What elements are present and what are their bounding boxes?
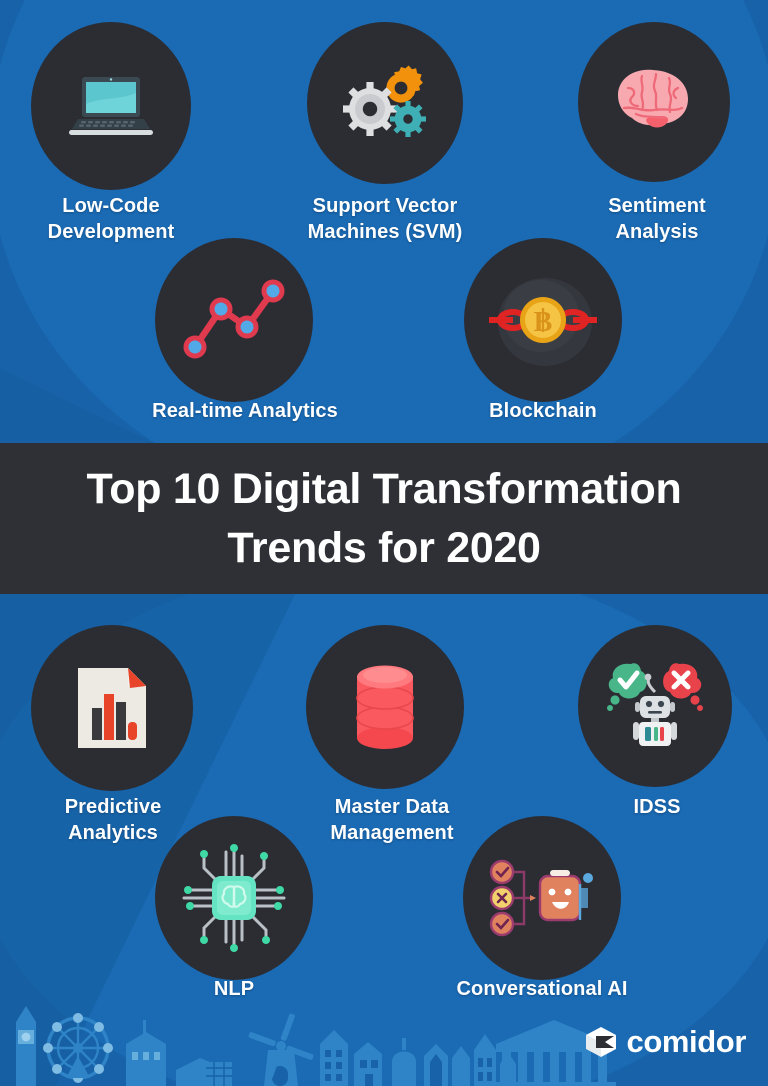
db-cylinder [357,666,413,750]
brain-icon [612,66,696,138]
brand-logo[interactable]: comidor [584,1024,747,1060]
title-line-1: Top 10 Digital Transformation [87,465,682,513]
trend-disc-8 [578,625,732,787]
line-chart-icon [181,279,287,361]
gears-icon [339,61,431,145]
brand-name: comidor [627,1024,747,1060]
decision-robot-icon [603,656,707,756]
brain-chip-icon [178,842,290,954]
trend-disc-5: B [464,238,622,402]
laptop-icon [68,73,154,139]
gear-gray [343,82,397,136]
title-banner: Top 10 Digital Transformation Trends for… [0,443,768,594]
trend-label-10: Conversational AI [442,976,642,1002]
page-title: Top 10 Digital Transformation Trends for… [87,460,682,577]
trend-label-8: IDSS [557,794,757,820]
trend-disc-1 [31,22,191,190]
cube-logo-icon [584,1025,618,1059]
trend-disc-10 [463,816,621,980]
connector-lines [514,872,532,924]
trend-label-4: Real-time Analytics [145,398,345,424]
chatbot-icon [488,858,596,938]
bitcoin-chain-icon: B [483,265,603,375]
trend-disc-4 [155,238,313,402]
title-line-2: Trends for 2020 [227,524,540,572]
decision-nodes [491,861,513,935]
trend-label-3: Sentiment Analysis [557,193,757,246]
trend-label-7: Master Data Management [292,794,492,847]
report-bar-chart-icon [72,662,152,754]
trend-disc-9 [155,816,313,980]
trend-disc-7 [306,625,464,789]
trend-disc-2 [307,22,463,184]
trend-label-1: Low-Code Development [11,193,211,246]
trend-disc-3 [578,22,730,182]
trend-disc-6 [31,625,193,791]
trend-label-2: Support Vector Machines (SVM) [285,193,485,246]
bot-face [540,870,593,920]
infographic-canvas: Low-Code Development [0,0,768,1086]
trend-label-9: NLP [134,976,334,1002]
trend-label-5: Blockchain [443,398,643,424]
gear-teal [390,101,426,137]
database-icon [349,660,421,754]
